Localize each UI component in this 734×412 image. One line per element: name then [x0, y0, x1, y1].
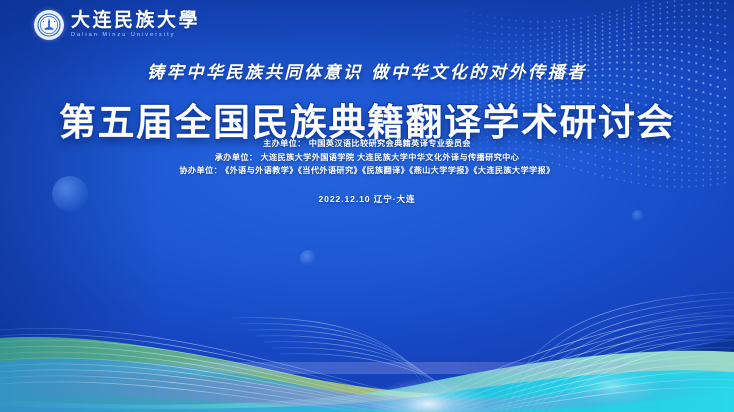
headline-block: 铸牢中华民族共同体意识 做中华文化的对外传播者 第五届全国民族典籍翻译学术研讨会: [0, 58, 734, 146]
organizer-list: 主办单位：中国英汉语比较研究会典籍英译专业委员会 承办单位：大连民族大学外国语学…: [0, 137, 734, 178]
organizer-row: 协办单位：《外语与外语教学》《当代外语研究》《民族翻译》《燕山大学学报》《大连民…: [0, 164, 734, 178]
organizer-row: 承办单位：大连民族大学外国语学院 大连民族大学中华文化外译与传播研究中心: [0, 151, 734, 165]
crest-glyph-icon: [37, 13, 61, 37]
organizer-label: 主办单位：: [263, 139, 306, 148]
logo-text-group: 大连民族大學 Dalian Minzu University: [71, 11, 200, 39]
organizer-row: 主办单位：中国英汉语比较研究会典籍英译专业委员会: [0, 137, 734, 151]
organizer-label: 承办单位：: [215, 153, 258, 162]
university-logo: 大连民族大學 Dalian Minzu University: [34, 10, 200, 40]
conference-banner: 大连民族大學 Dalian Minzu University 铸牢中华民族共同体…: [0, 0, 734, 412]
organizer-value: 《外语与外语教学》《当代外语研究》《民族翻译》《燕山大学学报》《大连民族大学学报…: [225, 166, 555, 175]
wave-glow-hotspot-secondary: [564, 366, 660, 406]
university-crest-icon: [34, 10, 64, 40]
organizer-label: 协办单位：: [179, 166, 222, 175]
event-date-location: 2022.12.10 辽宁·大连: [0, 193, 734, 205]
logo-name-en: Dalian Minzu University: [71, 33, 200, 39]
organizer-value: 大连民族大学外国语学院 大连民族大学中华文化外译与传播研究中心: [260, 153, 519, 162]
organizer-value: 中国英汉语比较研究会典籍英译专业委员会: [309, 139, 471, 148]
conference-slogan: 铸牢中华民族共同体意识 做中华文化的对外传播者: [0, 58, 734, 83]
logo-name-cn: 大连民族大學: [71, 11, 200, 30]
